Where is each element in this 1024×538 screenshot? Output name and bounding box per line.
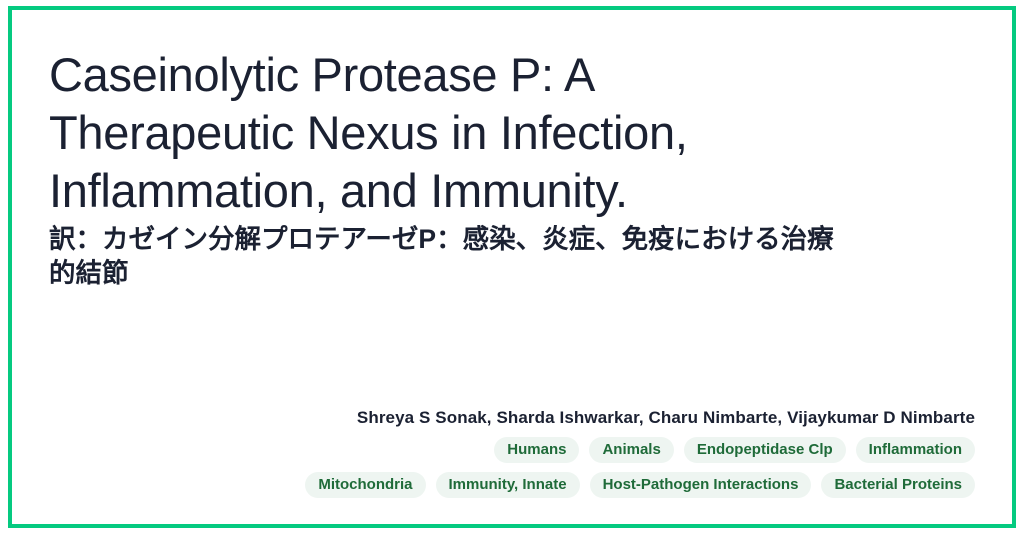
keyword-tag-row-1: Humans Animals Endopeptidase Clp Inflamm…	[494, 437, 975, 463]
article-card: Caseinolytic Protease P: A Therapeutic N…	[8, 6, 1016, 528]
authors-list: Shreya S Sonak, Sharda Ishwarkar, Charu …	[357, 408, 975, 428]
keyword-tag[interactable]: Mitochondria	[305, 472, 425, 498]
keyword-tag[interactable]: Endopeptidase Clp	[684, 437, 846, 463]
article-card-content: Caseinolytic Protease P: A Therapeutic N…	[12, 10, 1012, 524]
keyword-tag[interactable]: Host-Pathogen Interactions	[590, 472, 812, 498]
keyword-tag[interactable]: Inflammation	[856, 437, 975, 463]
title-block: Caseinolytic Protease P: A Therapeutic N…	[49, 46, 975, 290]
keyword-tag[interactable]: Bacterial Proteins	[821, 472, 975, 498]
keyword-tag-row-2: Mitochondria Immunity, Innate Host-Patho…	[305, 472, 975, 498]
layout-spacer	[49, 290, 975, 408]
page-title-translation-ja: 訳：カゼイン分解プロテアーゼP：感染、炎症、免疫における治療的結節	[49, 222, 859, 290]
page-title: Caseinolytic Protease P: A Therapeutic N…	[49, 46, 849, 220]
keyword-tag[interactable]: Humans	[494, 437, 579, 463]
keyword-tag[interactable]: Immunity, Innate	[436, 472, 580, 498]
keyword-tag[interactable]: Animals	[589, 437, 673, 463]
article-meta: Shreya S Sonak, Sharda Ishwarkar, Charu …	[49, 408, 975, 524]
